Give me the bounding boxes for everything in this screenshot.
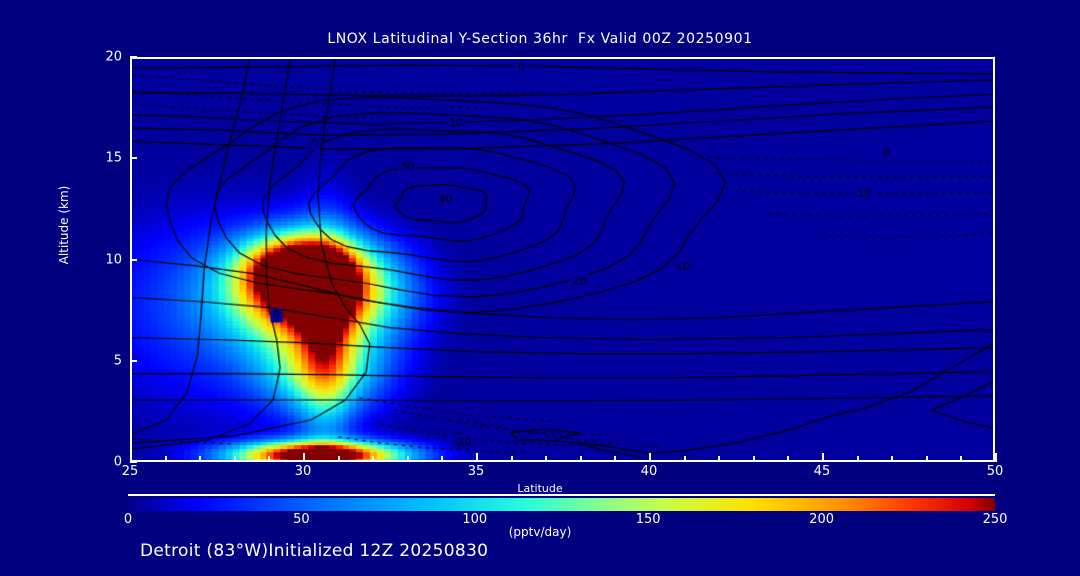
y-tick-mark	[130, 259, 137, 261]
x-tick-mark	[545, 456, 547, 462]
y-axis-label: Altitude (km)	[57, 155, 71, 295]
x-tick-mark	[822, 453, 824, 462]
x-tick-mark	[580, 456, 582, 462]
x-tick-mark	[753, 456, 755, 462]
x-tick-mark	[891, 456, 893, 462]
x-tick-label: 45	[792, 464, 852, 479]
colorbar-rule	[128, 494, 995, 496]
y-tick-mark	[130, 360, 137, 362]
x-tick-label: 40	[619, 464, 679, 479]
x-tick-mark	[372, 456, 374, 462]
x-tick-mark	[441, 456, 443, 462]
x-tick-label: 35	[446, 464, 506, 479]
y-tick-label: 10	[62, 252, 122, 267]
x-tick-mark	[995, 453, 997, 462]
y-tick-mark	[130, 56, 137, 58]
colorbar-units: (pptv/day)	[0, 525, 1080, 539]
y-tick-mark	[130, 157, 137, 159]
plot-frame	[130, 57, 995, 462]
x-tick-mark	[338, 456, 340, 462]
x-tick-mark	[268, 456, 270, 462]
x-tick-mark	[165, 456, 167, 462]
footer-caption: Detroit (83°W)Initialized 12Z 20250830	[140, 541, 488, 561]
x-tick-mark	[614, 456, 616, 462]
colorbar	[128, 498, 995, 511]
page-title: LNOX Latitudinal Y-Section 36hr Fx Valid…	[0, 31, 1080, 47]
x-tick-mark	[407, 456, 409, 462]
x-tick-mark	[649, 453, 651, 462]
x-tick-label: 25	[100, 464, 160, 479]
x-tick-mark	[787, 456, 789, 462]
x-tick-mark	[857, 456, 859, 462]
x-tick-mark	[718, 456, 720, 462]
x-tick-mark	[234, 456, 236, 462]
x-tick-mark	[303, 453, 305, 462]
y-tick-label: 20	[62, 50, 122, 65]
x-tick-mark	[960, 456, 962, 462]
x-tick-label: 50	[965, 464, 1025, 479]
y-tick-label: 15	[62, 151, 122, 166]
x-tick-mark	[130, 453, 132, 462]
x-tick-mark	[476, 453, 478, 462]
x-tick-mark	[684, 456, 686, 462]
x-tick-mark	[199, 456, 201, 462]
x-tick-mark	[511, 456, 513, 462]
x-tick-mark	[926, 456, 928, 462]
x-tick-label: 30	[273, 464, 333, 479]
lnox-cross-section-heatmap	[132, 59, 993, 460]
y-tick-label: 5	[62, 353, 122, 368]
